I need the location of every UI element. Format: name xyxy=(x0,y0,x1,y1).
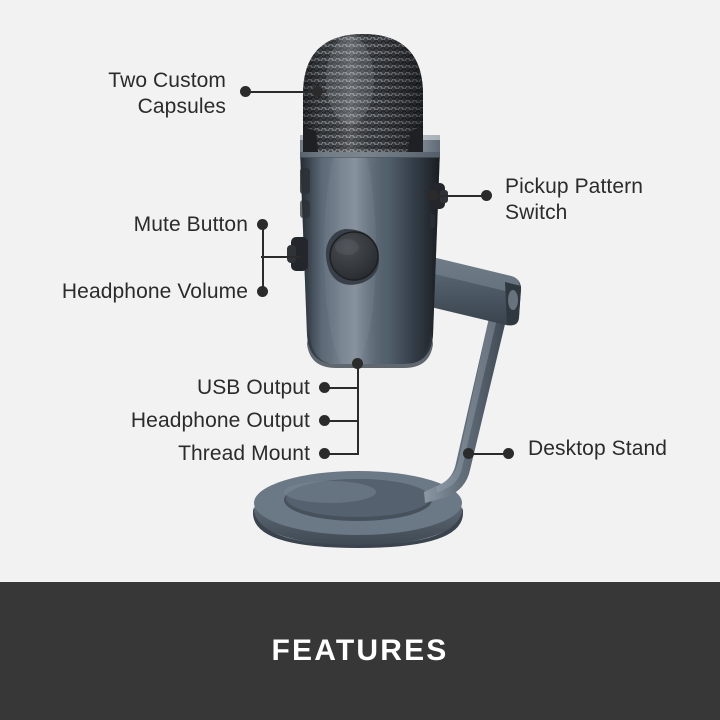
headphone-volume-dial xyxy=(300,168,310,218)
callout-line-mute-headphone-stub xyxy=(261,256,301,258)
stand-base xyxy=(253,471,463,548)
callout-label-thread-mount: Thread Mount xyxy=(10,441,310,467)
callout-dot-bottom-ports-target xyxy=(352,358,363,369)
callout-label-usb-output: USB Output xyxy=(10,375,310,401)
callout-spine-bottom-ports xyxy=(357,368,359,453)
callout-label-mute-button: Mute Button xyxy=(0,212,248,238)
callout-line-thread-mount xyxy=(324,453,359,455)
features-title: FEATURES xyxy=(271,634,448,668)
callout-line-usb-output xyxy=(324,387,359,389)
callout-label-headphone-volume: Headphone Volume xyxy=(0,279,248,305)
callout-label-two-custom-capsules: Two Custom Capsules xyxy=(0,68,226,120)
callout-dot-desktop-stand-text xyxy=(503,448,514,459)
stand-leg xyxy=(424,318,506,503)
callout-dot-pickup-pattern-text xyxy=(481,190,492,201)
features-footer-banner: FEATURES xyxy=(0,582,720,720)
callout-label-headphone-output: Headphone Output xyxy=(10,408,310,434)
callout-line-headphone-output xyxy=(324,420,359,422)
callout-dot-two-custom-capsules-target xyxy=(312,86,323,97)
callout-line-two-custom-capsules xyxy=(245,91,317,93)
callout-label-desktop-stand: Desktop Stand xyxy=(528,436,720,462)
callout-line-pickup-pattern xyxy=(432,195,486,197)
mute-button xyxy=(287,237,308,271)
callout-label-pickup-pattern-switch: Pickup Pattern Switch xyxy=(505,174,715,226)
callout-line-desktop-stand xyxy=(468,453,508,455)
product-feature-diagram: Two Custom Capsules Mute Button Headphon… xyxy=(0,0,720,720)
